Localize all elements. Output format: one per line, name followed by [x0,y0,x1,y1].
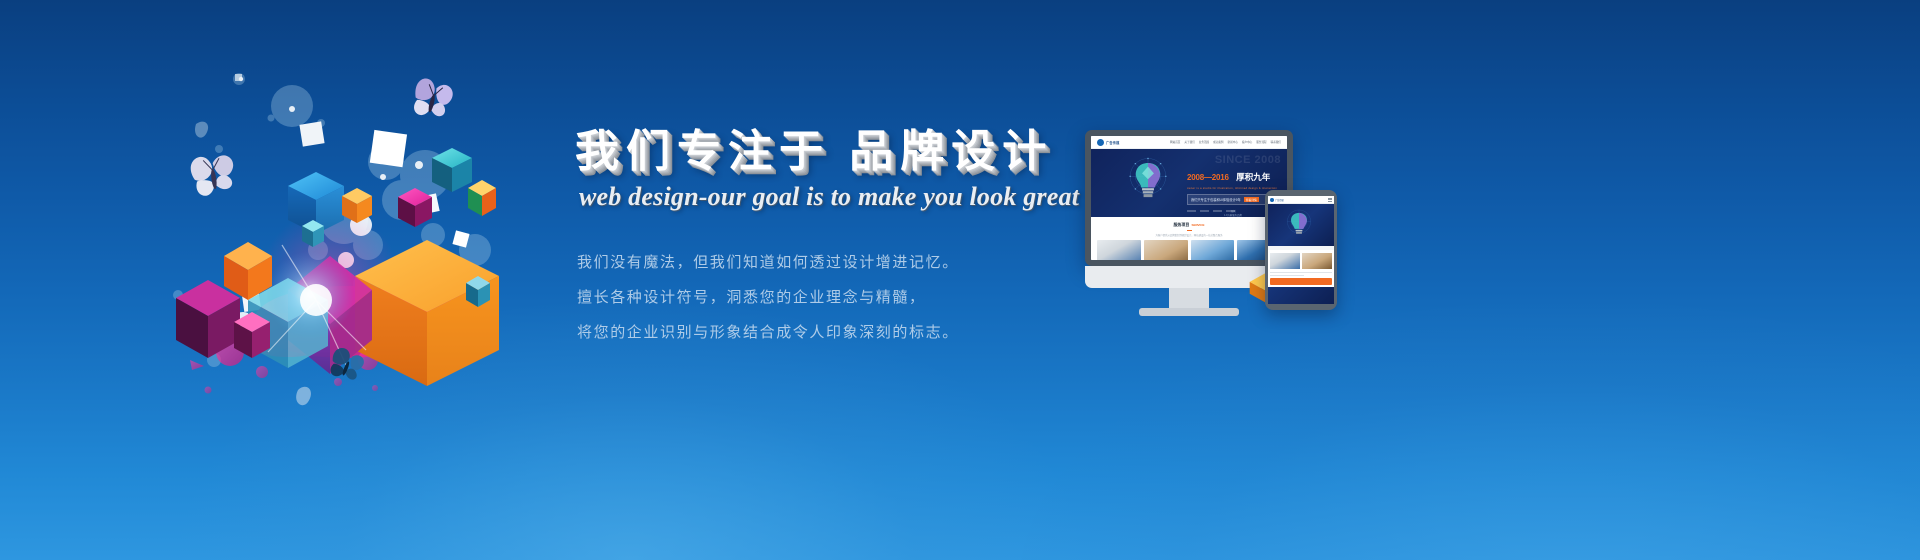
phone-lightbulb-icon [1282,209,1316,243]
phone-thumb[interactable] [1270,253,1300,269]
phone-thumb[interactable] [1302,253,1332,269]
phone-text-line [1270,275,1304,276]
background-glow-right [1020,300,1920,560]
site-nav-item[interactable]: 服务流程 [1256,140,1266,144]
phone-text-line [1270,272,1332,273]
site-navbar: 广告传媒 网站首页 关于我们 业务范围 成功案例 新闻中心 客户中心 服务流程 … [1091,136,1287,149]
monitor-stand-base [1139,308,1239,316]
hero-slider-dot[interactable] [1226,210,1235,212]
site-service-section: 服务项目SERVICE 为客户提供从品牌策划到视觉设计，网站建设的一站式整合服务 [1091,217,1287,260]
petal-shape [195,122,208,138]
petal-shape-2 [296,387,311,405]
section-description: 为客户提供从品牌策划到视觉设计，网站建设的一站式整合服务 [1097,233,1281,237]
hero-sub-text: owner is a studio for illustration, info… [1187,187,1279,190]
site-nav-item[interactable]: 业务范围 [1199,140,1209,144]
service-thumb[interactable] [1144,240,1188,260]
hero-cta-button[interactable]: 查看详情 [1244,197,1259,202]
hero-ghost-text: SINCE 2008 [1215,154,1281,166]
banner-text-block: 我们专注于 品牌设计 web design-our goal is to mak… [575,128,1095,355]
hero-slider-dot[interactable] [1200,210,1209,212]
hero-year-text: 2008—2016 [1187,173,1229,182]
site-hero-banner: SINCE 2008 [1091,149,1287,217]
phone-hero [1268,204,1334,246]
butterfly-top [410,77,455,122]
service-thumb[interactable] [1097,240,1141,260]
page-title: 我们专注于 品牌设计 [575,128,1095,176]
monitor-stand-neck [1169,288,1209,310]
hero-artwork [170,60,570,460]
section-title-en: SERVICE [1191,223,1204,227]
hero-slider-dot[interactable] [1213,210,1222,212]
page-subtitle: web design-our goal is to make you look … [579,182,1095,212]
site-nav-item[interactable]: 新闻中心 [1228,140,1238,144]
lightbulb-network-icon [1125,157,1171,209]
banner-body-copy: 我们没有魔法，但我们知道如何透过设计增进记忆。 擅长各种设计符号，洞悉您的企业理… [577,250,1095,345]
site-logo-icon [1097,139,1104,146]
site-nav-item[interactable]: 联系我们 [1271,140,1281,144]
phone-logo-text: 广告传媒 [1275,198,1284,202]
smartphone-mockup: 广告传媒 [1265,190,1337,310]
phone-logo-icon [1270,198,1274,202]
site-nav-item[interactable]: 成功案例 [1213,140,1223,144]
site-nav-item[interactable]: 网站首页 [1170,140,1180,144]
device-mockups: 广告传媒 网站首页 关于我们 业务范围 成功案例 新闻中心 客户中心 服务流程 … [1085,130,1355,330]
section-title: 服务项目SERVICE [1097,222,1281,228]
hamburger-menu-icon[interactable] [1328,197,1332,202]
hero-slogan-text: 厚积九年 [1236,171,1270,183]
site-nav-items: 网站首页 关于我们 业务范围 成功案例 新闻中心 客户中心 服务流程 联系我们 [1170,140,1281,144]
site-nav-item[interactable]: 客户中心 [1242,140,1252,144]
hero-cta-text: 我们只专注于包装和UI体验设计9年 [1191,197,1241,202]
desktop-monitor-mockup: 广告传媒 网站首页 关于我们 业务范围 成功案例 新闻中心 客户中心 服务流程 … [1085,130,1293,266]
body-line-3: 将您的企业识别与形象结合成令人印象深刻的标志。 [577,320,1095,345]
phone-navbar: 广告传媒 [1268,196,1334,204]
body-line-2: 擅长各种设计符号，洞悉您的企业理念与精髓， [577,285,1095,310]
site-logo-text: 广告传媒 [1106,140,1120,145]
phone-thumbnails [1268,250,1334,272]
promo-banner: 我们专注于 品牌设计 web design-our goal is to mak… [0,0,1920,560]
section-title-text: 服务项目 [1173,222,1189,227]
hero-slider-dots[interactable] [1187,210,1235,212]
body-line-1: 我们没有魔法，但我们知道如何透过设计增进记忆。 [577,250,1095,275]
service-thumbnails [1097,240,1281,260]
butterfly-left [189,152,237,197]
hero-slider-dot[interactable] [1187,210,1196,212]
phone-footer [1268,287,1334,304]
phone-cta-button[interactable] [1270,278,1332,285]
site-nav-item[interactable]: 关于我们 [1184,140,1194,144]
section-rule [1187,230,1192,231]
service-thumb[interactable] [1191,240,1235,260]
phone-screen: 广告传媒 [1268,196,1334,304]
phone-text-lines [1268,272,1334,276]
monitor-screen: 广告传媒 网站首页 关于我们 业务范围 成功案例 新闻中心 客户中心 服务流程 … [1091,136,1287,260]
